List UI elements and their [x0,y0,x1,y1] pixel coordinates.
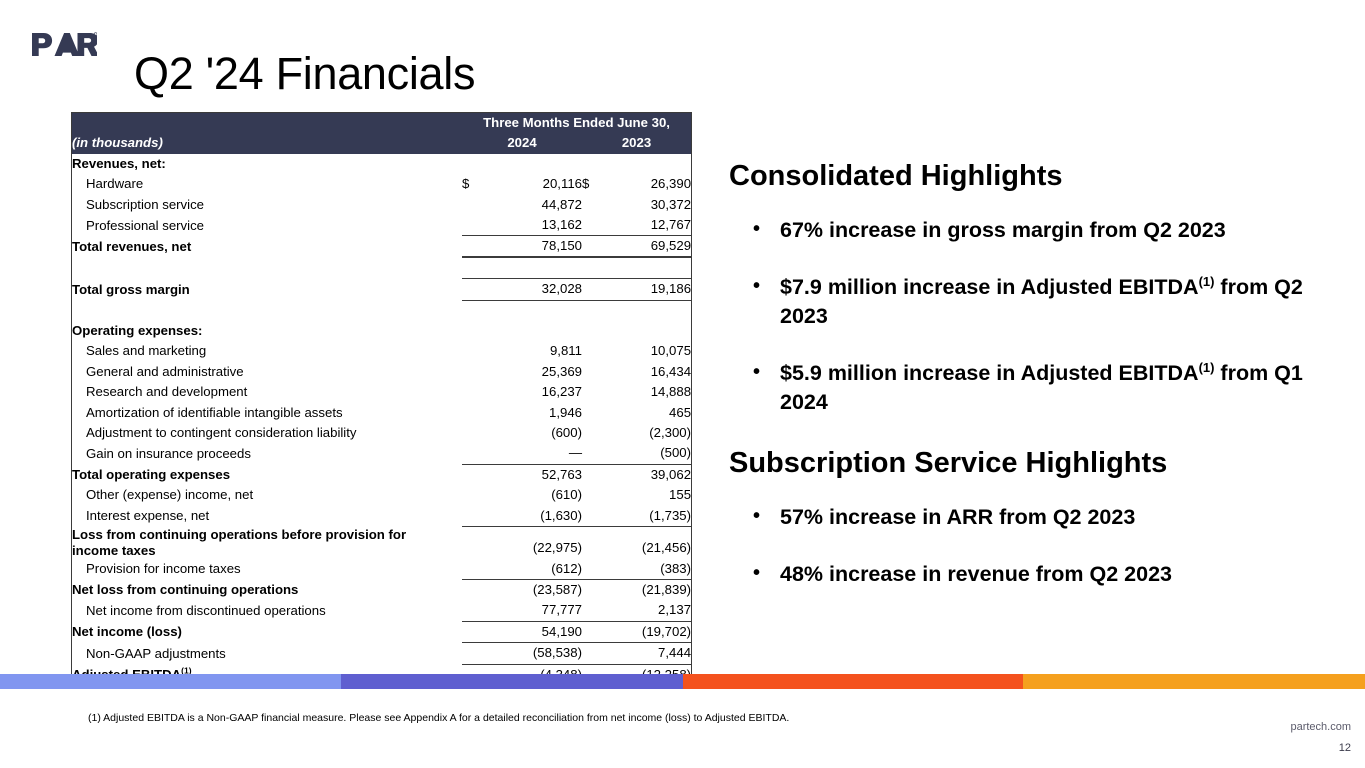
value-2023: 12,767 [598,215,691,236]
brand-color-bar [0,674,1365,689]
currency-symbol-2023 [582,443,598,464]
row-label: Provision for income taxes [72,559,462,580]
currency-symbol-2024 [462,643,478,664]
page-number-label: 12 [1339,742,1351,754]
value-2023: (21,839) [598,580,691,601]
value-2024: 32,028 [478,279,582,300]
row-label: Non-GAAP adjustments [72,643,462,664]
highlight-bullet: 48% increase in revenue from Q2 2023 [729,560,1329,589]
color-bar-segment [1023,674,1365,689]
currency-symbol-2024 [462,362,478,382]
row-label: Net income from discontinued operations [72,600,462,621]
column-header-2024: 2024 [462,133,582,153]
row-label: Loss from continuing operations before p… [72,527,462,559]
table-spacer-row [72,257,691,278]
currency-symbol-2024 [462,195,478,215]
value-2024: 20,116 [478,174,582,194]
financials-table: Three Months Ended June 30, (in thousand… [72,113,691,685]
table-row: Non-GAAP adjustments(58,538)7,444 [72,643,691,664]
row-label: Total gross margin [72,279,462,300]
table-row: Sales and marketing9,81110,075 [72,341,691,361]
currency-symbol-2024 [462,464,478,485]
header-spacer-cell [72,113,462,133]
value-2024: (23,587) [478,580,582,601]
row-label: Operating expenses: [72,321,462,341]
table-row: Gain on insurance proceeds—(500) [72,443,691,464]
value-2024: 44,872 [478,195,582,215]
value-2024: (58,538) [478,643,582,664]
highlight-bullet: 57% increase in ARR from Q2 2023 [729,503,1329,532]
row-label: Research and development [72,382,462,402]
table-row: Professional service13,16212,767 [72,215,691,236]
site-url-label: partech.com [1290,721,1351,733]
value-2023: (19,702) [598,621,691,642]
value-2023: 69,529 [598,236,691,257]
row-label: Hardware [72,174,462,194]
table-row: Total operating expenses52,76339,062 [72,464,691,485]
highlight-bullet-text: 67% increase in gross margin from Q2 202… [780,218,1226,242]
table-row: Adjustment to contingent consideration l… [72,423,691,443]
highlight-bullet-text: $7.9 million increase in Adjusted EBITDA [780,275,1199,299]
table-header-row-years: (in thousands) 2024 2023 [72,133,691,153]
row-label: Net loss from continuing operations [72,580,462,601]
highlight-bullet: $7.9 million increase in Adjusted EBITDA… [729,273,1329,331]
currency-symbol-2024 [462,236,478,257]
table-row: Other (expense) income, net(610)155 [72,485,691,505]
currency-symbol-2023 [582,321,598,341]
value-2023 [598,154,691,174]
table-header-row-period: Three Months Ended June 30, [72,113,691,133]
column-header-2023: 2023 [582,133,691,153]
currency-symbol-2024 [462,382,478,402]
period-header: Three Months Ended June 30, [462,113,691,133]
currency-symbol-2023 [582,559,598,580]
currency-symbol-2024 [462,321,478,341]
value-2023: 26,390 [598,174,691,194]
currency-symbol-2024 [462,559,478,580]
value-2023: 7,444 [598,643,691,664]
currency-symbol-2023 [582,195,598,215]
currency-symbol-2024 [462,341,478,361]
row-label: General and administrative [72,362,462,382]
row-label: Gain on insurance proceeds [72,443,462,464]
row-label: Subscription service [72,195,462,215]
table-body: Revenues, net:Hardware$20,116$26,390Subs… [72,154,691,685]
row-label: Net income (loss) [72,621,462,642]
value-2024: 52,763 [478,464,582,485]
table-row: Provision for income taxes(612)(383) [72,559,691,580]
highlight-bullet: 67% increase in gross margin from Q2 202… [729,216,1329,245]
row-label: Total operating expenses [72,464,462,485]
value-2024: 25,369 [478,362,582,382]
value-2023: (383) [598,559,691,580]
value-2023: 39,062 [598,464,691,485]
table-row: Net income from discontinued operations7… [72,600,691,621]
row-label: Other (expense) income, net [72,485,462,505]
value-2024: 78,150 [478,236,582,257]
page-title: Q2 '24 Financials [134,46,475,102]
value-2023: 30,372 [598,195,691,215]
row-label: Professional service [72,215,462,236]
footnote-marker: (1) [1199,360,1215,375]
currency-symbol-2023 [582,403,598,423]
color-bar-segment [341,674,683,689]
table-row: General and administrative25,36916,434 [72,362,691,382]
table-row: Total gross margin32,02819,186 [72,279,691,300]
table-row: Revenues, net: [72,154,691,174]
value-2023 [598,321,691,341]
currency-symbol-2023 [582,215,598,236]
currency-symbol-2024 [462,506,478,527]
currency-symbol-2023 [582,341,598,361]
row-label: Sales and marketing [72,341,462,361]
currency-symbol-2023 [582,154,598,174]
currency-symbol-2024 [462,279,478,300]
currency-symbol-2024: $ [462,174,478,194]
highlights-panel: Consolidated Highlights 67% increase in … [729,158,1329,589]
value-2023: 14,888 [598,382,691,402]
table-row: Total revenues, net78,15069,529 [72,236,691,257]
value-2024 [478,154,582,174]
value-2024: (600) [478,423,582,443]
currency-symbol-2023 [582,236,598,257]
currency-symbol-2024 [462,215,478,236]
currency-symbol-2024 [462,600,478,621]
table-row: Net income (loss)54,190(19,702) [72,621,691,642]
currency-symbol-2023 [582,621,598,642]
value-2024: 16,237 [478,382,582,402]
table-row: Subscription service44,87230,372 [72,195,691,215]
consolidated-highlights-heading: Consolidated Highlights [729,158,1329,194]
table-row: Loss from continuing operations before p… [72,527,691,559]
currency-symbol-2023 [582,279,598,300]
financials-table-container: Three Months Ended June 30, (in thousand… [71,112,692,686]
table-row: Operating expenses: [72,321,691,341]
color-bar-segment [0,674,341,689]
currency-symbol-2024 [462,423,478,443]
row-label: Interest expense, net [72,506,462,527]
highlight-bullet-text: 57% increase in ARR from Q2 2023 [780,505,1135,529]
color-bar-segment [683,674,1023,689]
value-2023: 10,075 [598,341,691,361]
currency-symbol-2024 [462,485,478,505]
footnote-marker: (1) [1199,274,1215,289]
currency-symbol-2023 [582,423,598,443]
currency-symbol-2023 [582,580,598,601]
value-2023: 19,186 [598,279,691,300]
table-spacer-row [72,300,691,321]
table-row: Hardware$20,116$26,390 [72,174,691,194]
par-logo-mark [31,30,97,60]
currency-symbol-2024 [462,443,478,464]
subscription-highlights-heading: Subscription Service Highlights [729,445,1329,481]
currency-symbol-2023 [582,527,598,559]
currency-symbol-2024 [462,403,478,423]
row-label: Amortization of identifiable intangible … [72,403,462,423]
row-label: Adjustment to contingent consideration l… [72,423,462,443]
value-2023: 2,137 [598,600,691,621]
value-2023: (21,456) [598,527,691,559]
highlight-bullet-text: 48% increase in revenue from Q2 2023 [780,562,1172,586]
currency-symbol-2023: $ [582,174,598,194]
highlight-bullet-text: $5.9 million increase in Adjusted EBITDA [780,361,1199,385]
value-2024 [478,321,582,341]
row-label: Total revenues, net [72,236,462,257]
table-row: Amortization of identifiable intangible … [72,403,691,423]
value-2023: 16,434 [598,362,691,382]
value-2023: (1,735) [598,506,691,527]
value-2023: 465 [598,403,691,423]
table-row: Research and development16,23714,888 [72,382,691,402]
row-label: Revenues, net: [72,154,462,174]
table-row: Interest expense, net(1,630)(1,735) [72,506,691,527]
value-2024: 9,811 [478,341,582,361]
value-2024: 77,777 [478,600,582,621]
value-2024: 13,162 [478,215,582,236]
value-2024: (1,630) [478,506,582,527]
value-2024: 54,190 [478,621,582,642]
currency-symbol-2023 [582,485,598,505]
currency-symbol-2023 [582,600,598,621]
currency-symbol-2024 [462,580,478,601]
consolidated-highlights-list: 67% increase in gross margin from Q2 202… [729,216,1329,417]
value-2024: (22,975) [478,527,582,559]
value-2024: — [478,443,582,464]
units-label: (in thousands) [72,133,462,153]
table-header: Three Months Ended June 30, (in thousand… [72,113,691,154]
currency-symbol-2023 [582,362,598,382]
highlight-bullet: $5.9 million increase in Adjusted EBITDA… [729,359,1329,417]
value-2024: 1,946 [478,403,582,423]
value-2023: (2,300) [598,423,691,443]
footnote-text: (1) Adjusted EBITDA is a Non-GAAP financ… [88,712,789,724]
currency-symbol-2023 [582,464,598,485]
subscription-highlights-list: 57% increase in ARR from Q2 202348% incr… [729,503,1329,589]
par-logo [31,30,97,60]
value-2023: 155 [598,485,691,505]
value-2024: (612) [478,559,582,580]
table-row: Net loss from continuing operations(23,5… [72,580,691,601]
currency-symbol-2024 [462,154,478,174]
currency-symbol-2024 [462,527,478,559]
currency-symbol-2024 [462,621,478,642]
value-2023: (500) [598,443,691,464]
currency-symbol-2023 [582,643,598,664]
currency-symbol-2023 [582,506,598,527]
value-2024: (610) [478,485,582,505]
currency-symbol-2023 [582,382,598,402]
